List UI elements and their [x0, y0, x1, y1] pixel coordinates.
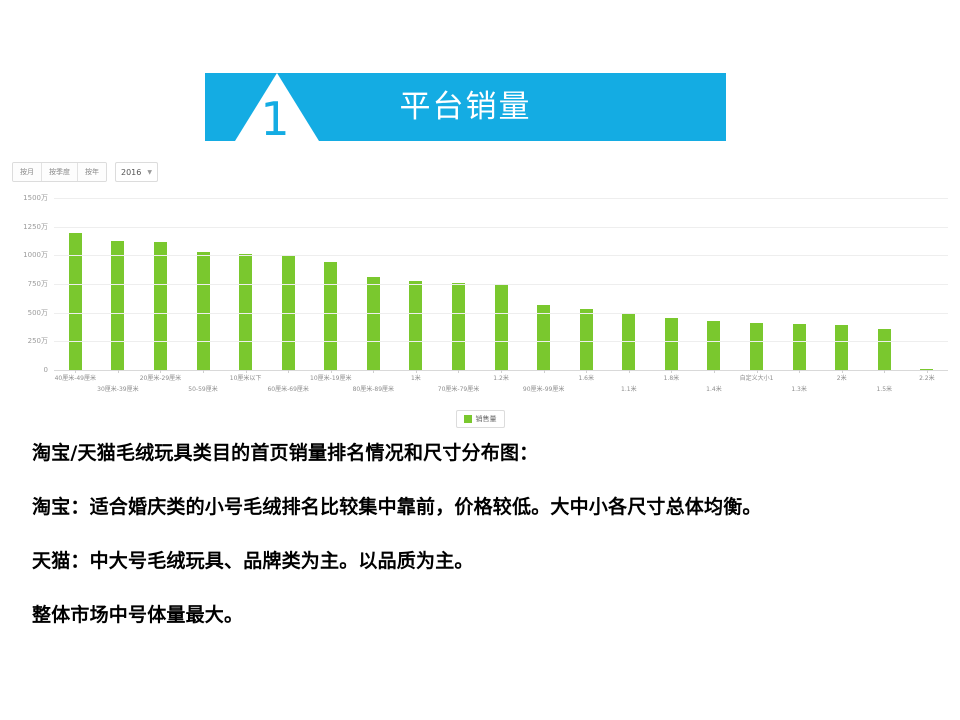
x-axis-tick-label: 1.8米 [664, 373, 680, 382]
bar[interactable] [750, 323, 763, 370]
x-axis-tick-label: 10厘米-19厘米 [310, 373, 351, 382]
x-label-slot: 90厘米-99厘米 [522, 371, 565, 397]
period-button-monthly[interactable]: 按月 [13, 163, 42, 181]
grid-line [54, 284, 948, 285]
x-label-slot: 1.8米 [650, 371, 693, 397]
x-label-slot: 1.2米 [480, 371, 523, 397]
notes-block: 淘宝/天猫毛绒玩具类目的首页销量排名情况和尺寸分布图： 淘宝：适合婚庆类的小号毛… [32, 438, 942, 654]
x-axis-tick-label: 80厘米-89厘米 [353, 384, 394, 393]
plot-grid [54, 198, 948, 371]
x-axis-tick-label: 1.2米 [493, 373, 509, 382]
x-label-slot: 1.6米 [565, 371, 608, 397]
x-axis-tick-label: 1.3米 [791, 384, 807, 393]
bar[interactable] [452, 283, 465, 370]
bar[interactable] [878, 329, 891, 370]
bar[interactable] [69, 233, 82, 370]
x-label-slot: 80厘米-89厘米 [352, 371, 395, 397]
grid-line [54, 255, 948, 256]
grid-line [54, 198, 948, 199]
x-axis-labels: 40厘米-49厘米30厘米-39厘米20厘米-29厘米50-59厘米10厘米以下… [54, 371, 948, 397]
x-label-slot: 40厘米-49厘米 [54, 371, 97, 397]
x-label-slot: 30厘米-39厘米 [97, 371, 140, 397]
sales-chart-panel: 按月 按季度 按年 2016 ▼ 0250万500万750万1000万1250万… [12, 162, 948, 437]
legend-item-sales[interactable]: 销售量 [456, 410, 505, 428]
x-axis-tick-label: 1.5米 [876, 384, 892, 393]
bar[interactable] [793, 324, 806, 370]
grid-line [54, 227, 948, 228]
note-line-3: 天猫：中大号毛绒玩具、品牌类为主。以品质为主。 [32, 546, 942, 573]
x-label-slot: 1.3米 [778, 371, 821, 397]
x-axis-tick-label: 90厘米-99厘米 [523, 384, 564, 393]
x-axis-tick-label: 70厘米-79厘米 [438, 384, 479, 393]
bar[interactable] [707, 321, 720, 370]
y-axis-tick-label: 500万 [28, 308, 48, 318]
bar[interactable] [154, 242, 167, 370]
x-label-slot: 50-59厘米 [182, 371, 225, 397]
note-line-4: 整体市场中号体量最大。 [32, 600, 942, 627]
x-label-slot: 1.5米 [863, 371, 906, 397]
legend-color-swatch [464, 415, 472, 423]
period-toggle-group[interactable]: 按月 按季度 按年 [12, 162, 107, 182]
y-axis-tick-label: 750万 [28, 279, 48, 289]
x-label-slot: 2.2米 [906, 371, 949, 397]
bar[interactable] [580, 309, 593, 370]
x-axis-tick-label: 30厘米-39厘米 [97, 384, 138, 393]
y-axis: 0250万500万750万1000万1250万1500万 [12, 198, 52, 370]
x-label-slot: 70厘米-79厘米 [437, 371, 480, 397]
x-label-slot: 1.4米 [693, 371, 736, 397]
x-label-slot: 1.1米 [608, 371, 651, 397]
page-title: 平台销量 [205, 73, 726, 141]
grid-line [54, 341, 948, 342]
title-banner: 1 平台销量 [205, 73, 726, 141]
x-axis-tick-label: 40厘米-49厘米 [55, 373, 96, 382]
x-axis-tick-label: 60厘米-69厘米 [267, 384, 308, 393]
x-label-slot: 自定义大小1 [735, 371, 778, 397]
y-axis-tick-label: 1000万 [23, 250, 48, 260]
y-axis-tick-label: 1500万 [23, 193, 48, 203]
y-axis-tick-label: 250万 [28, 336, 48, 346]
bar[interactable] [835, 325, 848, 370]
chart-legend: 销售量 [12, 410, 948, 428]
y-axis-tick-label: 1250万 [23, 222, 48, 232]
chart-toolbar: 按月 按季度 按年 2016 ▼ [12, 162, 158, 182]
y-axis-tick-label: 0 [44, 366, 48, 374]
x-label-slot: 10厘米以下 [224, 371, 267, 397]
x-label-slot: 1米 [395, 371, 438, 397]
year-select-value: 2016 [121, 168, 141, 177]
x-label-slot: 60厘米-69厘米 [267, 371, 310, 397]
x-axis-tick-label: 10厘米以下 [230, 373, 262, 382]
x-axis-tick-label: 1.1米 [621, 384, 637, 393]
bar[interactable] [665, 318, 678, 370]
x-label-slot: 10厘米-19厘米 [309, 371, 352, 397]
chart-plot-area: 0250万500万750万1000万1250万1500万 40厘米-49厘米30… [12, 198, 948, 383]
chevron-down-icon: ▼ [147, 169, 152, 176]
x-axis-tick-label: 50-59厘米 [188, 384, 217, 393]
x-axis-tick-label: 1.6米 [578, 373, 594, 382]
x-axis-tick-label: 2.2米 [919, 373, 935, 382]
x-axis-tick-label: 1.4米 [706, 384, 722, 393]
x-axis-tick-label: 2米 [837, 373, 847, 382]
bar[interactable] [409, 281, 422, 370]
bar[interactable] [537, 305, 550, 370]
x-axis-tick-label: 自定义大小1 [740, 373, 774, 382]
period-button-yearly[interactable]: 按年 [78, 163, 106, 181]
bar[interactable] [367, 277, 380, 370]
period-button-quarterly[interactable]: 按季度 [42, 163, 78, 181]
legend-label: 销售量 [476, 414, 497, 424]
bar[interactable] [111, 241, 124, 370]
bar[interactable] [324, 262, 337, 370]
year-select[interactable]: 2016 ▼ [115, 162, 158, 182]
x-label-slot: 2米 [820, 371, 863, 397]
note-line-2: 淘宝：适合婚庆类的小号毛绒排名比较集中靠前，价格较低。大中小各尺寸总体均衡。 [32, 492, 942, 519]
bar[interactable] [197, 252, 210, 370]
bar[interactable] [495, 284, 508, 370]
note-line-1: 淘宝/天猫毛绒玩具类目的首页销量排名情况和尺寸分布图： [32, 438, 942, 465]
x-axis-tick-label: 1米 [411, 373, 421, 382]
x-label-slot: 20厘米-29厘米 [139, 371, 182, 397]
grid-line [54, 313, 948, 314]
x-axis-tick-label: 20厘米-29厘米 [140, 373, 181, 382]
